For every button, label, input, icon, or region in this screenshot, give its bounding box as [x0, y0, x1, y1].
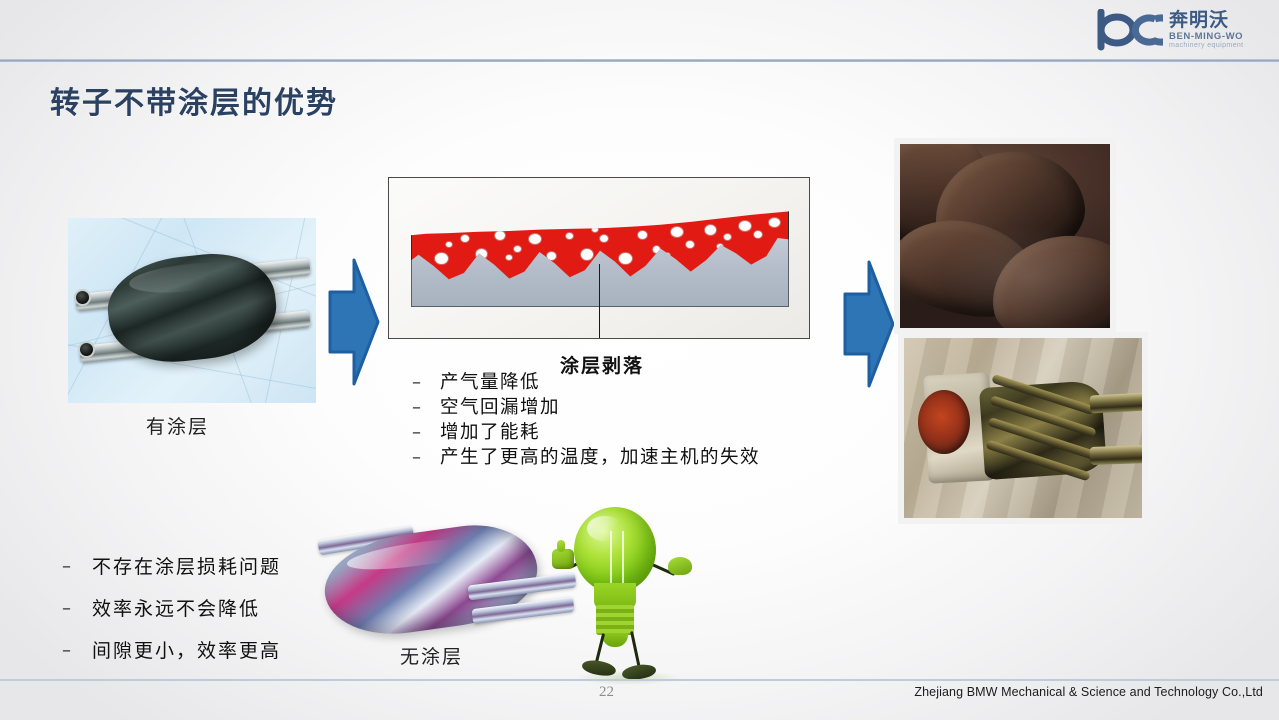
page-title: 转子不带涂层的优势 — [50, 78, 338, 122]
bullet-dash: – — [412, 445, 440, 470]
worn-rotor-closeup-photo — [900, 144, 1110, 328]
list-item-label: 效率永远不会降低 — [92, 588, 260, 630]
bullet-dash: – — [412, 420, 440, 445]
coating-problems-list: – 产气量降低 – 空气回漏增加 – 增加了能耗 – 产生了更高的温度，加速主机… — [412, 370, 760, 470]
bullet-dash: – — [62, 546, 92, 588]
logo-tagline: machinery equipment — [1169, 42, 1244, 49]
list-item-label: 产生了更高的温度，加速主机的失效 — [440, 445, 760, 470]
list-item: – 空气回漏增加 — [412, 395, 760, 420]
coated-screw-rotors-photo — [68, 218, 316, 403]
thumbs-up-icon — [552, 549, 574, 569]
logo-romanized-name: BEN-MING-WO — [1169, 32, 1244, 42]
footer-company-name: Zhejiang BMW Mechanical & Science and Te… — [914, 685, 1263, 699]
list-item: – 产气量降低 — [412, 370, 760, 395]
callout-pointer-line — [599, 264, 600, 338]
uncoated-photo-caption: 无涂层 — [400, 642, 463, 669]
list-item-label: 不存在涂层损耗问题 — [92, 546, 281, 588]
list-item-label: 间隙更小，效率更高 — [92, 630, 281, 672]
slide: 奔明沃 BEN-MING-WO machinery equipment 转子不带… — [0, 0, 1279, 720]
logo-chinese-name: 奔明沃 — [1169, 11, 1244, 30]
list-item-label: 增加了能耗 — [440, 420, 540, 445]
header-divider — [0, 59, 1279, 62]
list-item-label: 空气回漏增加 — [440, 395, 560, 420]
blue-right-arrow-icon-1 — [328, 256, 380, 388]
list-item: – 增加了能耗 — [412, 420, 760, 445]
page-number: 22 — [599, 684, 614, 701]
uncoated-advantages-list: – 不存在涂层损耗问题 – 效率永远不会降低 – 间隙更小，效率更高 — [62, 546, 281, 672]
bullet-dash: – — [412, 370, 440, 395]
logo-text: 奔明沃 BEN-MING-WO machinery equipment — [1169, 11, 1244, 50]
coated-photo-caption: 有涂层 — [146, 412, 209, 439]
list-item: – 不存在涂层损耗问题 — [62, 546, 281, 588]
green-bulb-mascot-icon — [540, 505, 666, 665]
bullet-dash: – — [62, 630, 92, 672]
bullet-dash: – — [62, 588, 92, 630]
coating-delamination-cross-section — [388, 177, 810, 339]
list-item: – 效率永远不会降低 — [62, 588, 281, 630]
company-logo: 奔明沃 BEN-MING-WO machinery equipment — [1097, 6, 1265, 54]
list-item: – 间隙更小，效率更高 — [62, 630, 281, 672]
failed-compressor-rotor-photo — [904, 338, 1142, 518]
chrome-rotor-with-green-bulb-mascot — [318, 505, 668, 665]
footer-divider — [0, 679, 1279, 681]
list-item: – 产生了更高的温度，加速主机的失效 — [412, 445, 760, 470]
blue-right-arrow-icon-2 — [843, 258, 895, 390]
bullet-dash: – — [412, 395, 440, 420]
list-item-label: 产气量降低 — [440, 370, 540, 395]
bo-monogram-icon — [1097, 9, 1163, 51]
